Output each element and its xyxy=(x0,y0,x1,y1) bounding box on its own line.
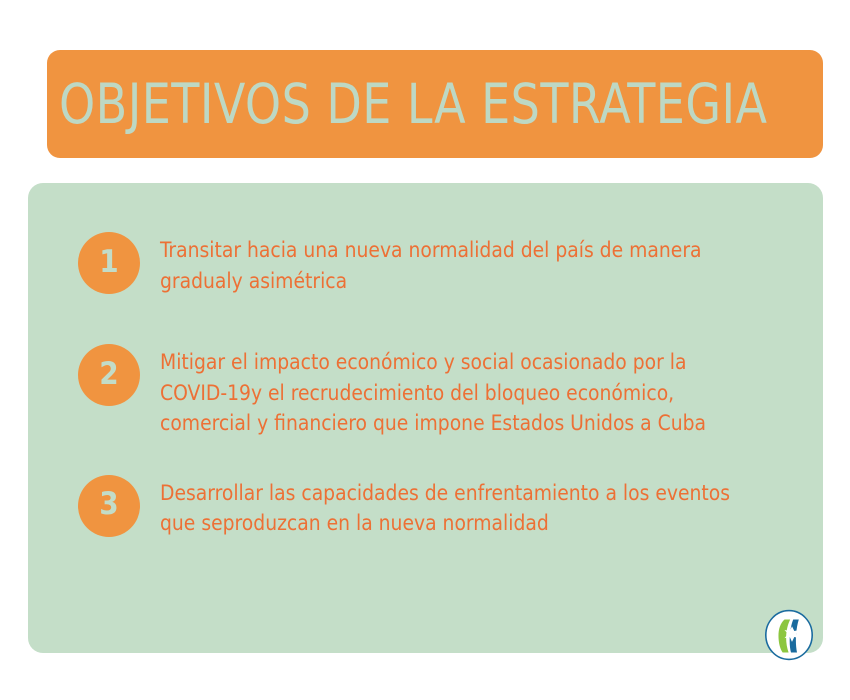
objective-text-2: Mitigar el impacto económico y social oc… xyxy=(160,344,742,440)
organization-logo-icon xyxy=(764,609,814,661)
number-badge-label: 3 xyxy=(99,489,118,520)
slide-canvas: OBJETIVOS DE LA ESTRATEGIA 1 Transitar h… xyxy=(0,0,850,700)
number-badge-3: 3 xyxy=(78,475,140,537)
list-item: 3 Desarrollar las capacidades de enfrent… xyxy=(78,475,798,540)
number-badge-label: 1 xyxy=(99,247,118,278)
objectives-list: 1 Transitar hacia una nueva normalidad d… xyxy=(78,232,798,540)
number-badge-2: 2 xyxy=(78,344,140,406)
objective-text-1: Transitar hacia una nueva normalidad del… xyxy=(160,232,742,297)
slide-title-bar: OBJETIVOS DE LA ESTRATEGIA xyxy=(47,50,823,158)
list-item: 2 Mitigar el impacto económico y social … xyxy=(78,344,798,440)
list-item: 1 Transitar hacia una nueva normalidad d… xyxy=(78,232,798,297)
objectives-panel: 1 Transitar hacia una nueva normalidad d… xyxy=(28,183,823,653)
page-title: OBJETIVOS DE LA ESTRATEGIA xyxy=(59,77,767,132)
number-badge-1: 1 xyxy=(78,232,140,294)
objective-text-3: Desarrollar las capacidades de enfrentam… xyxy=(160,475,742,540)
number-badge-label: 2 xyxy=(99,359,118,390)
